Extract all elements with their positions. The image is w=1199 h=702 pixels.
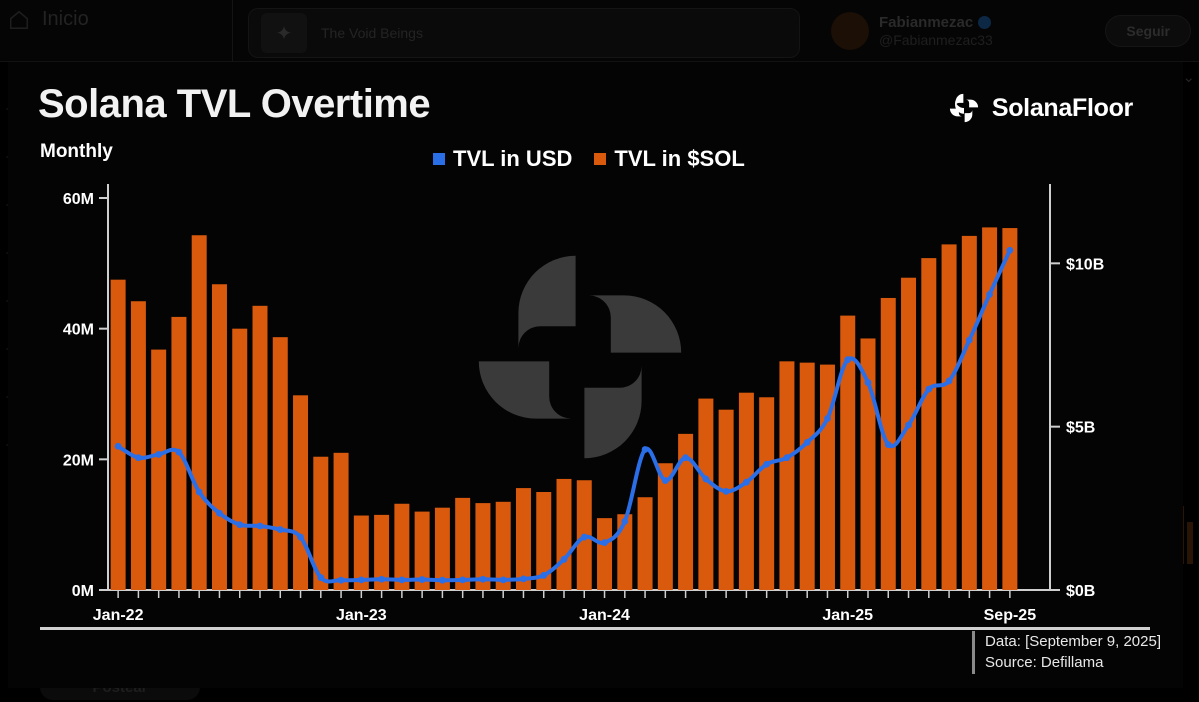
line-point (824, 415, 831, 422)
bar (232, 329, 247, 590)
line-point (966, 337, 973, 344)
bar (111, 280, 126, 590)
bar (293, 395, 308, 590)
screenshot-root: Inicio ✦ The Void Beings Fabianmezac @Fa… (0, 0, 1199, 702)
bar (597, 518, 612, 590)
avatar (831, 12, 869, 50)
line-point (500, 576, 507, 583)
svg-text:60M: 60M (63, 191, 94, 208)
svg-text:Sep-25: Sep-25 (984, 607, 1037, 624)
bar (921, 258, 936, 590)
follow-button[interactable]: Seguir (1105, 15, 1191, 47)
svg-text:$10B: $10B (1066, 256, 1104, 273)
line-point (155, 451, 162, 458)
line-point (865, 379, 872, 386)
line-point (358, 576, 365, 583)
line-point (196, 489, 203, 496)
line-point (277, 526, 284, 533)
line-point (986, 291, 993, 298)
line-point (378, 576, 385, 583)
bar (719, 410, 734, 590)
line-point (601, 539, 608, 546)
line-point (743, 479, 750, 486)
line-point (317, 574, 324, 581)
line-point (682, 454, 689, 461)
line-point (885, 441, 892, 448)
line-point (946, 378, 953, 385)
chevron-down-icon[interactable]: ⌄ (1182, 68, 1195, 86)
svg-text:$5B: $5B (1066, 420, 1095, 437)
line-point (216, 510, 223, 517)
line-point (338, 577, 345, 584)
chart-plot: 0M20M40M60M$0B$5B$10BJan-22Jan-23Jan-24J… (8, 62, 1183, 688)
line-point (520, 575, 527, 582)
sparkle-icon: ✦ (261, 13, 307, 53)
line-point (642, 446, 649, 453)
bar (698, 399, 713, 590)
chart-card: Solana TVL Overtime Monthly SolanaFloor … (8, 62, 1183, 688)
bar-series (111, 227, 1018, 590)
line-point (784, 454, 791, 461)
bar (638, 497, 653, 590)
bar (151, 350, 166, 590)
background-profile-name: Fabianmezac (879, 14, 973, 31)
line-point (723, 488, 730, 495)
line-point (662, 477, 669, 484)
background-card-title: The Void Beings (321, 25, 423, 41)
line-point (480, 576, 487, 583)
background-home-nav[interactable]: Inicio (8, 8, 89, 31)
bar (131, 301, 146, 590)
chart-footnote: Data: [September 9, 2025] Source: Defill… (972, 631, 1161, 675)
background-profile[interactable]: Fabianmezac @Fabianmezac33 Seguir (831, 4, 1191, 58)
line-point (925, 386, 932, 393)
background-home-label: Inicio (42, 8, 89, 31)
bar (759, 397, 774, 590)
bar (516, 488, 531, 590)
line-point (1006, 247, 1013, 254)
bar (192, 235, 207, 590)
bar (334, 453, 349, 590)
svg-text:Jan-24: Jan-24 (579, 607, 630, 624)
footnote-source: Source: Defillama (985, 652, 1161, 674)
svg-text:0M: 0M (72, 583, 94, 600)
line-point (804, 439, 811, 446)
verified-badge-icon (978, 16, 991, 29)
bar (800, 363, 815, 590)
svg-text:40M: 40M (63, 322, 94, 339)
background-profile-handle: @Fabianmezac33 (879, 32, 993, 48)
line-point (459, 576, 466, 583)
bar (739, 393, 754, 590)
bar (273, 337, 288, 590)
line-point (115, 443, 122, 450)
svg-text:Jan-25: Jan-25 (822, 607, 873, 624)
line-point (135, 454, 142, 461)
house-icon (8, 9, 30, 31)
background-divider (232, 0, 233, 62)
line-point (398, 576, 405, 583)
line-point (561, 556, 568, 563)
line-point (763, 461, 770, 468)
svg-text:Jan-23: Jan-23 (336, 607, 387, 624)
bar (962, 236, 977, 590)
svg-text:Jan-22: Jan-22 (93, 607, 144, 624)
line-point (236, 521, 243, 528)
line-point (581, 534, 588, 541)
bar (942, 244, 957, 590)
line-point (540, 572, 547, 579)
line-point (702, 476, 709, 483)
line-point (176, 449, 183, 456)
line-point (297, 534, 304, 541)
svg-text:20M: 20M (63, 452, 94, 469)
bar (253, 306, 268, 590)
bar (455, 498, 470, 590)
footnote-data: Data: [September 9, 2025] (985, 631, 1161, 653)
bar (212, 284, 227, 590)
bar (779, 361, 794, 590)
line-point (621, 518, 628, 525)
bar (1002, 228, 1017, 590)
line-point (257, 523, 264, 530)
svg-text:$0B: $0B (1066, 583, 1095, 600)
background-media-card[interactable]: ✦ The Void Beings (248, 8, 800, 58)
line-point (419, 576, 426, 583)
bar (557, 479, 572, 590)
line-point (905, 422, 912, 429)
line-point (439, 577, 446, 584)
line-point (844, 356, 851, 363)
